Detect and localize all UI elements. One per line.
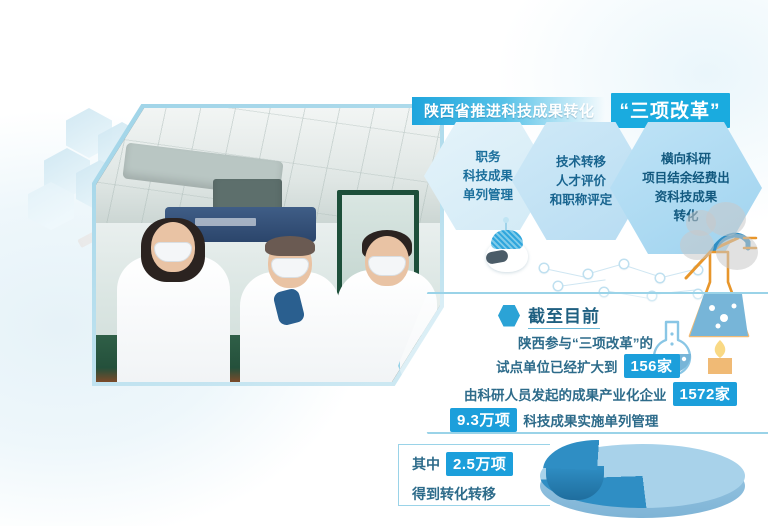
photo-hair: [265, 236, 315, 256]
callout-prefix: 其中: [412, 454, 440, 474]
stats-badge-enterprises: 1572家: [673, 382, 738, 406]
stats-badge-pilot-units: 156家: [624, 354, 680, 378]
callout-row-2: 得到转化转移: [412, 484, 513, 504]
stats-line-1-text: 陕西参与“三项改革”的: [518, 332, 653, 352]
headline-main: 陕西省推进科技成果转化: [412, 97, 605, 125]
reform-hex-3-line-2: 项目结余经费出: [642, 169, 730, 188]
stats-line-3-text: 由科研人员发起的成果产业化企业: [464, 384, 667, 404]
stats-heading: 截至目前: [498, 302, 600, 329]
photo-researcher-center: [240, 272, 340, 382]
smoke-puff: [680, 230, 714, 260]
robot-antenna: [505, 221, 507, 230]
callout: 其中 2.5万项 得到转化转移: [412, 452, 513, 504]
stats-line-3: 由科研人员发起的成果产业化企业 1572家: [464, 382, 737, 406]
photo-researcher-left: [117, 256, 231, 382]
lab-photo: [92, 104, 444, 386]
robot-brain: [491, 230, 523, 249]
reform-hex-1-line-3: 单列管理: [463, 186, 513, 205]
smoke-puff: [706, 202, 746, 236]
reform-hex-2-line-3: 和职称评定: [550, 191, 613, 210]
photo-face-mask: [154, 242, 192, 262]
reform-hex-1-line-1: 职务: [475, 148, 500, 167]
reform-hex-2-line-2: 人才评价: [556, 172, 606, 191]
photo-face-mask: [271, 258, 309, 278]
stats-badge-achievements: 9.3万项: [450, 408, 517, 432]
reform-hex-1-line-2: 科技成果: [463, 167, 513, 186]
reform-hex-3-line-1: 横向科研: [661, 150, 711, 169]
network-node: [620, 260, 628, 268]
network-node: [540, 264, 548, 272]
photo-glove: [273, 287, 306, 326]
photo-face-mask: [368, 256, 406, 276]
stats-line-2-text: 试点单位已经扩大到: [496, 356, 618, 376]
callout-badge-transferred: 2.5万项: [446, 452, 513, 476]
stats-heading-label: 截至目前: [528, 302, 600, 329]
pie-chart-slice-top: [543, 440, 651, 500]
smoke-puff: [716, 234, 758, 270]
ai-robot-head-icon: [484, 228, 530, 274]
stats-line-1: 陕西参与“三项改革”的: [518, 332, 653, 352]
callout-row-1: 其中 2.5万项: [412, 452, 513, 476]
network-node: [584, 270, 592, 278]
stats-line-2: 试点单位已经扩大到 156家: [496, 354, 680, 378]
network-node: [554, 282, 562, 290]
reform-hex-2-line-1: 技术转移: [556, 153, 606, 172]
reform-hex-3-line-3: 资科技成果: [655, 188, 718, 207]
network-node: [656, 274, 664, 282]
stats-line-4-text: 科技成果实施单列管理: [523, 410, 658, 430]
infographic-canvas: 陕西省推进科技成果转化 “三项改革” 职务 科技成果 单列管理 技术转移 人才评…: [0, 0, 768, 526]
stats-line-4: 9.3万项 科技成果实施单列管理: [450, 408, 658, 432]
pie-chart: [540, 438, 752, 526]
stats-panel: 截至目前 陕西参与“三项改革”的 试点单位已经扩大到 156家 由科研人员发起的…: [398, 292, 768, 434]
hexagon-bullet-icon: [498, 305, 520, 327]
lab-photo-image: [96, 108, 440, 382]
